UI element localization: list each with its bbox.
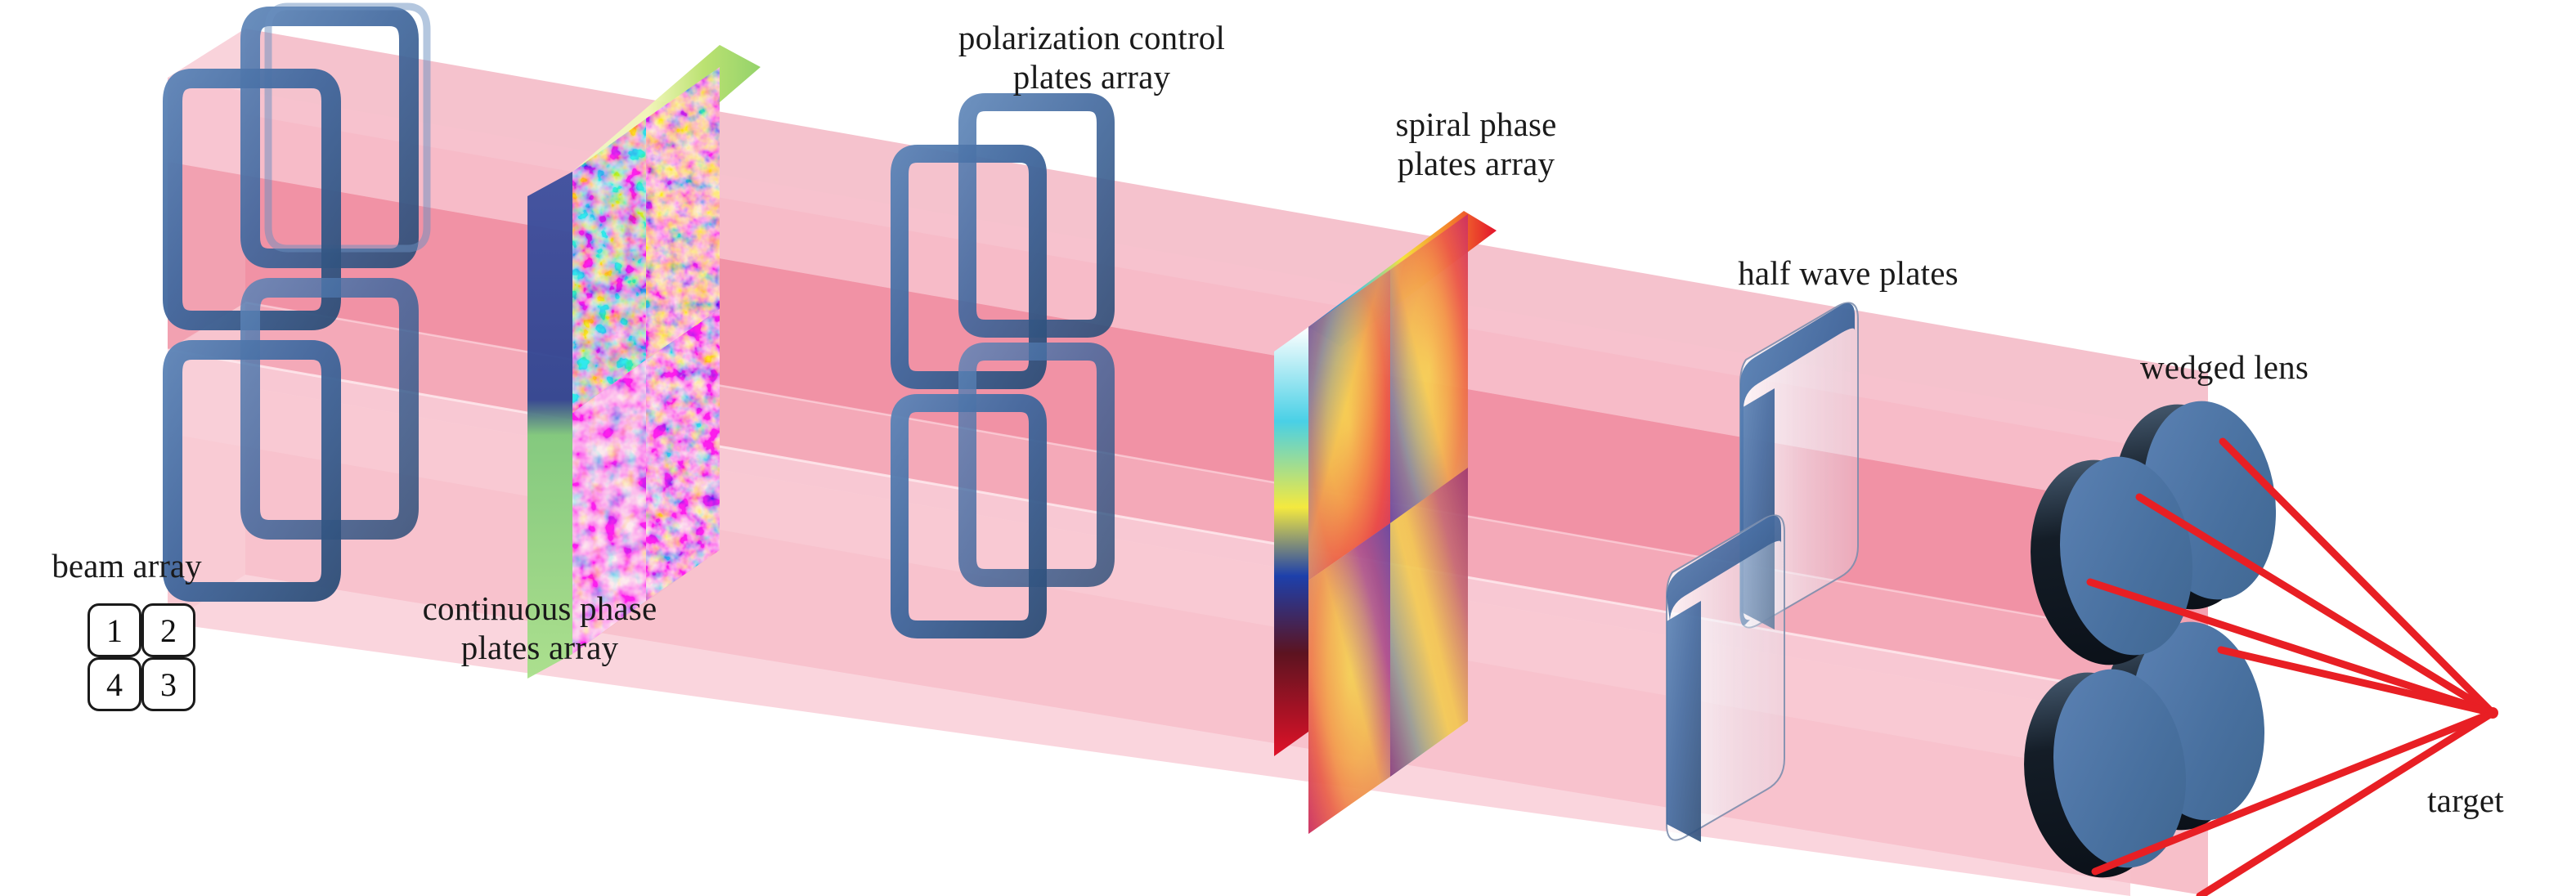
label-spiral-phase-plates-array: spiral phase plates array bbox=[1325, 105, 1627, 184]
label-polarization-control-plates-array: polarization control plates array bbox=[883, 18, 1300, 97]
label-continuous-phase-plates-array: continuous phase plates array bbox=[364, 589, 716, 668]
diagram-canvas: continuous phase plates array polarizati… bbox=[0, 0, 2576, 896]
optical-scene bbox=[0, 0, 2576, 896]
beam-array-cell-2[interactable]: 2 bbox=[141, 603, 195, 657]
label-target: target bbox=[2384, 781, 2547, 820]
label-wedged-lens: wedged lens bbox=[2089, 347, 2359, 387]
target-point bbox=[2487, 707, 2498, 719]
label-half-wave-plates: half wave plates bbox=[1668, 253, 2028, 293]
beam-array-cell-4[interactable]: 4 bbox=[88, 657, 141, 711]
ray-4 bbox=[2221, 650, 2493, 713]
beam-array-legend[interactable]: 1 2 4 3 bbox=[88, 603, 195, 711]
beam-array-cell-3[interactable]: 3 bbox=[141, 657, 195, 711]
beam-bundle bbox=[168, 29, 2208, 896]
beam-array-cell-1[interactable]: 1 bbox=[88, 603, 141, 657]
spp-left-edge bbox=[1274, 327, 1308, 756]
legend-title-beam-array: beam array bbox=[29, 546, 225, 585]
